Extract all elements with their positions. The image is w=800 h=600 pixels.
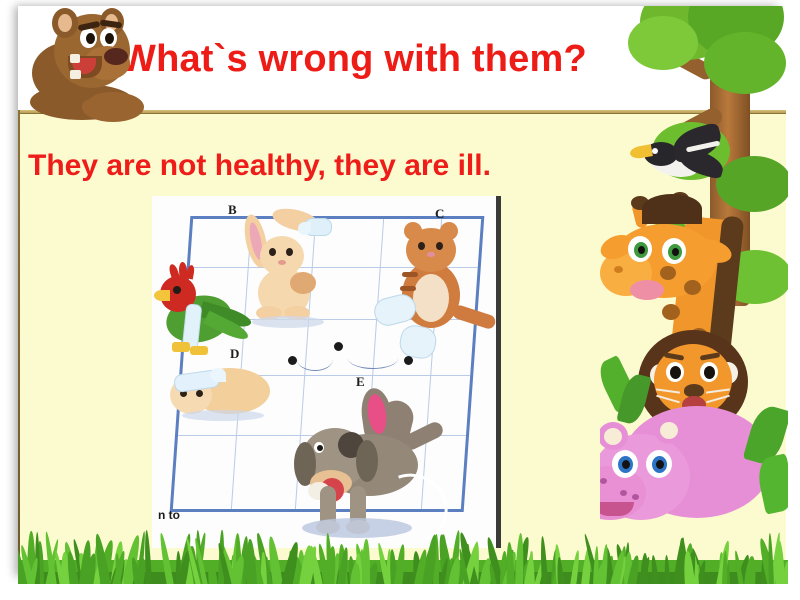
flea-icon [288, 356, 297, 365]
slide-bottom-edge [18, 584, 788, 600]
worksheet-footer-text: n to [158, 508, 180, 522]
worksheet-animal-dog [268, 382, 458, 542]
worksheet-label-b: B [228, 202, 237, 218]
worksheet-animal-rabbit [238, 210, 346, 332]
flea-icon [404, 356, 413, 365]
worksheet-label-d: D [230, 346, 239, 362]
grass-blade [245, 538, 257, 586]
bear-icon [30, 6, 155, 124]
jungle-decoration [600, 6, 788, 572]
worksheet-image[interactable]: B [152, 196, 501, 548]
slide-canvas: What`s wrong with them? They are not hea… [0, 0, 800, 600]
grass-blade [767, 533, 774, 586]
worksheet-label-c: C [435, 206, 444, 222]
grass-icon [18, 528, 788, 586]
subtitle-text: They are not healthy, they are ill. [28, 146, 648, 186]
flea-trail [348, 348, 398, 369]
worksheet-animal-hamster [166, 364, 276, 424]
flea-icon [334, 342, 343, 351]
page-title: What`s wrong with them? [120, 36, 680, 82]
worksheet-canvas: B [152, 196, 496, 548]
flea-trail [297, 348, 333, 371]
grass-blade [505, 542, 515, 586]
worksheet-animal-cat [380, 222, 492, 362]
